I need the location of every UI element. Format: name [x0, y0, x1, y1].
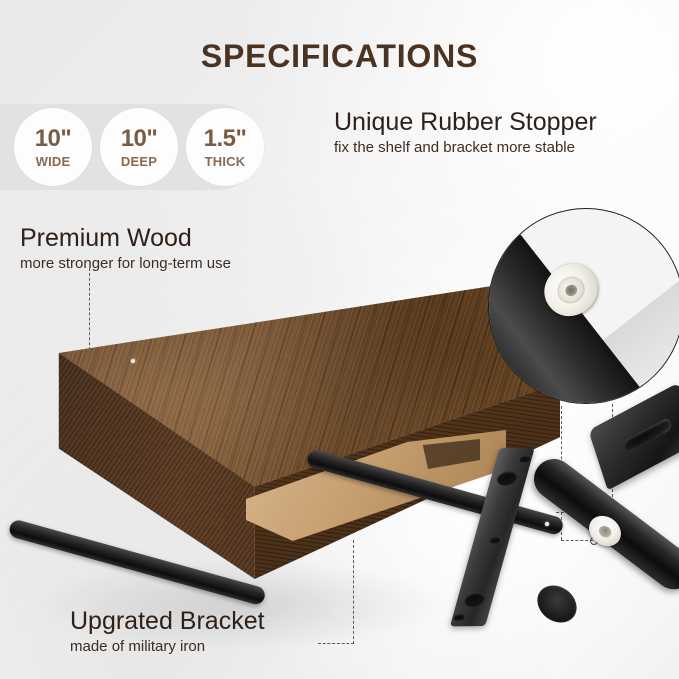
callout-premium-wood: Premium Wood more stronger for long-term… [20, 224, 231, 273]
badge-thickness-value: 1.5" [204, 127, 247, 151]
callout-premium-wood-heading: Premium Wood [20, 224, 231, 252]
bracket-hole-large-top [495, 471, 520, 486]
spec-badge-group: 10" WIDE 10" DEEP 1.5" THICK [14, 108, 264, 186]
bracket-arm-slot-hole [623, 417, 673, 453]
bracket-rod-screw-front-icon [357, 537, 361, 541]
bracket-hole-small-bottom [453, 614, 467, 621]
bracket-arm-detail [520, 395, 679, 635]
callout-upgraded-bracket-subtext: made of military iron [70, 638, 265, 656]
badge-width-label: WIDE [36, 155, 71, 168]
callout-rubber-stopper-heading: Unique Rubber Stopper [334, 108, 597, 136]
badge-thickness: 1.5" THICK [186, 108, 264, 186]
badge-thickness-label: THICK [205, 155, 246, 168]
badge-width-value: 10" [35, 127, 72, 151]
badge-width: 10" WIDE [14, 108, 92, 186]
bracket-arm-tube-opening [530, 578, 584, 630]
callout-upgraded-bracket: Upgrated Bracket made of military iron [70, 607, 265, 656]
callout-rubber-stopper-subtext: fix the shelf and bracket more stable [334, 139, 597, 157]
magnifier-detail-rubber-stopper [488, 208, 679, 404]
page-title: SPECIFICATIONS [0, 38, 679, 75]
product-specification-image: SPECIFICATIONS 10" WIDE 10" DEEP 1.5" TH… [0, 0, 679, 679]
badge-depth: 10" DEEP [100, 108, 178, 186]
badge-depth-value: 10" [121, 127, 158, 151]
callout-rubber-stopper: Unique Rubber Stopper fix the shelf and … [334, 108, 597, 157]
callout-premium-wood-subtext: more stronger for long-term use [20, 255, 231, 273]
badge-depth-label: DEEP [121, 155, 157, 168]
shelf-screw-hole-icon [131, 359, 135, 363]
bracket-hole-middle [488, 537, 502, 544]
bracket-hole-large-bottom [463, 592, 488, 607]
